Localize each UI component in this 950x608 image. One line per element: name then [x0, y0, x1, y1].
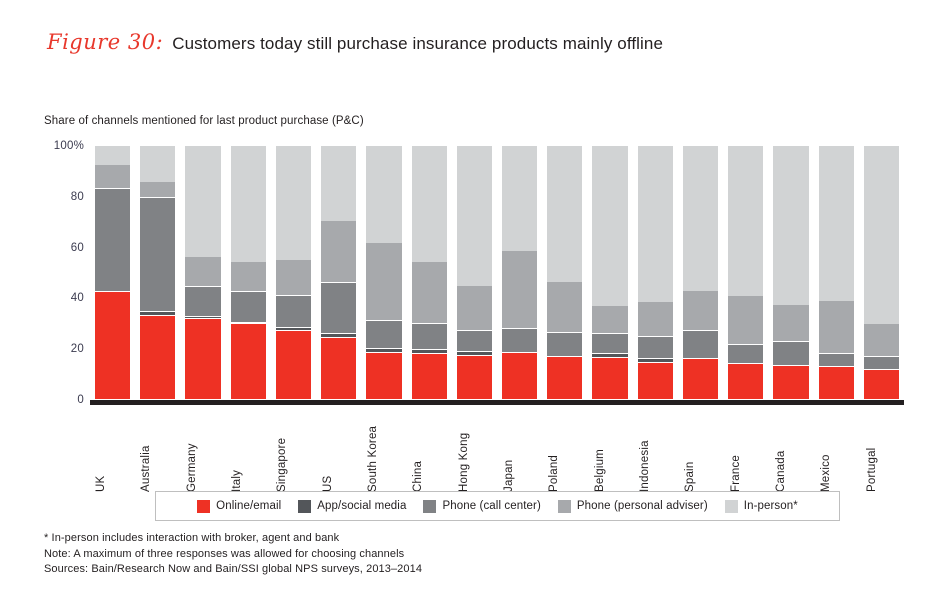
bar-segment[interactable] — [276, 146, 311, 260]
bar-column[interactable] — [95, 146, 130, 400]
x-axis-label: Poland — [548, 412, 583, 492]
bar-segment[interactable] — [321, 146, 356, 221]
bar-segment[interactable] — [412, 324, 447, 351]
bar-column[interactable] — [276, 146, 311, 400]
bar-segment[interactable] — [592, 358, 627, 400]
bar-column[interactable] — [502, 146, 537, 400]
legend-swatch-icon — [197, 500, 210, 513]
x-axis-label: South Korea — [367, 412, 402, 492]
bar-segment[interactable] — [638, 302, 673, 336]
bar-column[interactable] — [728, 146, 763, 400]
bar-segment[interactable] — [864, 357, 899, 370]
legend-swatch-icon — [558, 500, 571, 513]
bar-column[interactable] — [321, 146, 356, 400]
bar-segment[interactable] — [276, 260, 311, 296]
bar-column[interactable] — [819, 146, 854, 400]
legend-item[interactable]: Online/email — [197, 500, 281, 513]
bar-column[interactable] — [140, 146, 175, 400]
bar-segment[interactable] — [683, 359, 718, 400]
bar-segment[interactable] — [185, 146, 220, 256]
bar-segment[interactable] — [502, 146, 537, 251]
x-axis-label: UK — [95, 412, 130, 492]
bar-segment[interactable] — [638, 337, 673, 360]
bar-segment[interactable] — [683, 331, 718, 359]
figure-title-text: Customers today still purchase insurance… — [172, 34, 663, 54]
x-axis-label: Mexico — [820, 412, 855, 492]
bar-column[interactable] — [638, 146, 673, 400]
bar-segment[interactable] — [864, 324, 899, 357]
stacked-bars-container — [90, 146, 904, 400]
x-axis-label: Spain — [684, 412, 719, 492]
chart-subtitle: Share of channels mentioned for last pro… — [44, 115, 364, 127]
bar-column[interactable] — [864, 146, 899, 400]
chart-legend: Online/emailApp/social mediaPhone (call … — [155, 491, 840, 521]
bar-segment[interactable] — [140, 146, 175, 182]
bar-segment[interactable] — [231, 146, 266, 262]
x-axis-label: Germany — [186, 412, 221, 492]
bar-column[interactable] — [773, 146, 808, 400]
bar-segment[interactable] — [683, 291, 718, 332]
legend-label: Online/email — [216, 500, 281, 512]
bar-segment[interactable] — [728, 296, 763, 346]
bar-segment[interactable] — [728, 345, 763, 364]
legend-item[interactable]: In-person* — [725, 500, 798, 513]
bar-segment[interactable] — [819, 367, 854, 400]
bar-segment[interactable] — [547, 146, 582, 282]
bar-column[interactable] — [366, 146, 401, 400]
x-axis-label: Indonesia — [639, 412, 674, 492]
legend-swatch-icon — [298, 500, 311, 513]
bar-segment[interactable] — [864, 146, 899, 324]
footnote-in-person: * In-person includes interaction with br… — [44, 531, 422, 547]
y-axis-tick-100pct: 100% — [44, 140, 84, 152]
bar-segment[interactable] — [321, 338, 356, 400]
bar-segment[interactable] — [276, 296, 311, 328]
bar-segment[interactable] — [728, 146, 763, 296]
bar-segment[interactable] — [502, 353, 537, 400]
figure-number-label: Figure 30: — [47, 30, 163, 54]
bar-segment[interactable] — [140, 182, 175, 199]
legend-label: Phone (call center) — [442, 500, 540, 512]
bar-segment[interactable] — [95, 189, 130, 292]
legend-item[interactable]: App/social media — [298, 500, 406, 513]
legend-swatch-icon — [725, 500, 738, 513]
x-axis-label: Canada — [775, 412, 810, 492]
y-axis-tick-20: 20 — [44, 343, 84, 355]
bar-segment[interactable] — [321, 221, 356, 283]
bar-segment[interactable] — [366, 243, 401, 322]
bar-segment[interactable] — [366, 353, 401, 400]
x-axis-label: Portugal — [866, 412, 901, 492]
bar-column[interactable] — [547, 146, 582, 400]
bar-segment[interactable] — [502, 251, 537, 328]
legend-label: App/social media — [317, 500, 406, 512]
figure-title-row: Figure 30: Customers today still purchas… — [47, 30, 663, 54]
x-axis-baseline — [90, 400, 904, 405]
y-axis-tick-60: 60 — [44, 242, 84, 254]
bar-segment[interactable] — [547, 357, 582, 400]
x-axis-labels: UKAustraliaGermanyItalySingaporeUSSouth … — [90, 412, 906, 492]
x-axis-label: Singapore — [276, 412, 311, 492]
bar-segment[interactable] — [321, 283, 356, 334]
x-axis-label: France — [730, 412, 765, 492]
bar-segment[interactable] — [864, 370, 899, 400]
bar-column[interactable] — [457, 146, 492, 400]
x-axis-label: Belgium — [594, 412, 629, 492]
y-axis-tick-80: 80 — [44, 191, 84, 203]
x-axis-label: Australia — [140, 412, 175, 492]
bar-segment[interactable] — [457, 331, 492, 351]
bar-segment[interactable] — [95, 146, 130, 165]
bar-segment[interactable] — [366, 146, 401, 243]
bar-segment[interactable] — [95, 165, 130, 189]
legend-label: Phone (personal adviser) — [577, 500, 708, 512]
x-axis-label: US — [322, 412, 357, 492]
y-axis-tick-0: 0 — [44, 394, 84, 406]
bar-segment[interactable] — [728, 364, 763, 400]
legend-swatch-icon — [423, 500, 436, 513]
bar-segment[interactable] — [773, 366, 808, 400]
legend-label: In-person* — [744, 500, 798, 512]
y-axis: 020406080100% — [44, 146, 84, 400]
bar-segment[interactable] — [819, 301, 854, 354]
bar-segment[interactable] — [502, 329, 537, 353]
bar-segment[interactable] — [457, 146, 492, 286]
footnote-note: Note: A maximum of three responses was a… — [44, 547, 422, 563]
chart-plot-area: 020406080100% — [44, 146, 904, 411]
x-axis-label: China — [412, 412, 447, 492]
bar-column[interactable] — [592, 146, 627, 400]
bar-segment[interactable] — [140, 198, 175, 312]
bar-segment[interactable] — [412, 354, 447, 400]
bar-segment[interactable] — [231, 324, 266, 400]
bar-segment[interactable] — [457, 286, 492, 332]
bar-column[interactable] — [231, 146, 266, 400]
bar-segment[interactable] — [773, 342, 808, 366]
footnote-sources: Sources: Bain/Research Now and Bain/SSI … — [44, 562, 422, 578]
bar-segment[interactable] — [638, 146, 673, 302]
bar-segment[interactable] — [592, 146, 627, 306]
bar-segment[interactable] — [819, 146, 854, 301]
legend-item[interactable]: Phone (personal adviser) — [558, 500, 708, 513]
bar-segment[interactable] — [592, 334, 627, 354]
bar-segment[interactable] — [547, 333, 582, 357]
bar-segment[interactable] — [683, 146, 718, 291]
bar-segment[interactable] — [185, 257, 220, 287]
legend-item[interactable]: Phone (call center) — [423, 500, 540, 513]
bar-segment[interactable] — [773, 146, 808, 305]
bar-segment[interactable] — [185, 319, 220, 400]
bar-segment[interactable] — [276, 331, 311, 400]
bar-segment[interactable] — [638, 363, 673, 400]
chart-footnotes: * In-person includes interaction with br… — [44, 531, 422, 578]
x-axis-label: Japan — [503, 412, 538, 492]
bar-segment[interactable] — [457, 356, 492, 400]
bar-segment[interactable] — [412, 262, 447, 324]
x-axis-label: Hong Kong — [458, 412, 493, 492]
bar-segment[interactable] — [366, 321, 401, 349]
x-axis-label: Italy — [231, 412, 266, 492]
bar-segment[interactable] — [231, 292, 266, 322]
bar-column[interactable] — [185, 146, 220, 400]
bar-segment[interactable] — [185, 287, 220, 317]
bar-segment[interactable] — [592, 306, 627, 334]
bar-segment[interactable] — [773, 305, 808, 342]
bar-segment[interactable] — [95, 292, 130, 400]
bar-segment[interactable] — [819, 354, 854, 367]
bar-column[interactable] — [683, 146, 718, 400]
bar-column[interactable] — [412, 146, 447, 400]
bar-segment[interactable] — [231, 262, 266, 292]
bar-segment[interactable] — [547, 282, 582, 333]
bar-segment[interactable] — [412, 146, 447, 262]
bar-segment[interactable] — [140, 316, 175, 400]
y-axis-tick-40: 40 — [44, 292, 84, 304]
